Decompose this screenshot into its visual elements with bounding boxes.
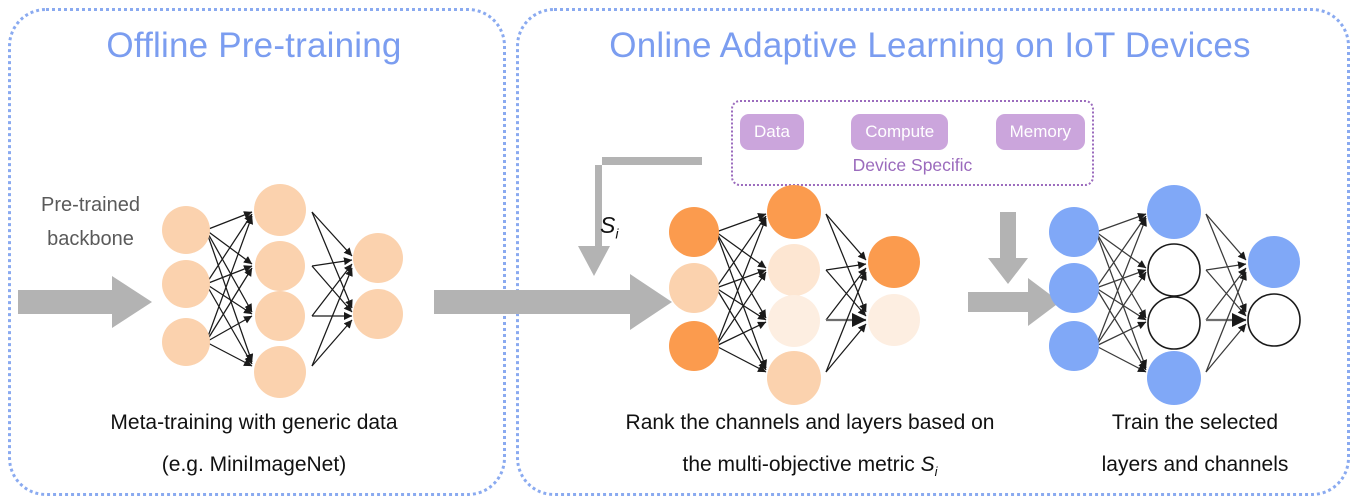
- metric-si-symbol: S: [600, 212, 615, 238]
- node-input-3: [162, 318, 210, 366]
- backbone-input-arrow: [18, 276, 152, 328]
- node-hidden-2-unselected: [1148, 244, 1200, 296]
- node-input-1: [1049, 207, 1099, 257]
- layer-input: [669, 207, 719, 371]
- rank-to-train-arrow: [968, 278, 1060, 326]
- caption-training-line1: Train the selected: [1050, 402, 1340, 444]
- node-hidden-3-unselected: [1148, 297, 1200, 349]
- layer-output: [868, 236, 920, 346]
- caption-ranking-metric-sub: i: [935, 464, 938, 479]
- node-input-1: [162, 206, 210, 254]
- node-hidden-1: [767, 185, 821, 239]
- node-input-3: [669, 321, 719, 371]
- layer-output: [1248, 236, 1300, 346]
- metric-si-label: Si: [600, 212, 619, 243]
- pretrained-backbone-network: [160, 186, 430, 402]
- node-output-1: [353, 233, 403, 283]
- node-input-3: [1049, 321, 1099, 371]
- node-input-1: [669, 207, 719, 257]
- node-hidden-4: [254, 346, 306, 398]
- caption-ranking-line2-text: the multi-objective metric: [683, 453, 921, 476]
- selected-training-network: [1048, 190, 1333, 410]
- layer-hidden: [1147, 185, 1201, 405]
- node-input-2: [162, 260, 210, 308]
- layer-output: [353, 233, 403, 339]
- node-input-2: [669, 263, 719, 313]
- node-hidden-2: [768, 244, 820, 296]
- caption-ranking: Rank the channels and layers based on th…: [560, 402, 1060, 493]
- node-hidden-4: [767, 351, 821, 405]
- node-hidden-2: [255, 241, 305, 291]
- edges-hidden-output: [312, 212, 352, 366]
- offline-to-online-arrow: [434, 274, 672, 330]
- node-output-1: [1248, 236, 1300, 288]
- edges-hidden-output: [1206, 214, 1246, 372]
- node-hidden-3: [768, 295, 820, 347]
- layer-input: [162, 206, 210, 366]
- figure-stage: Offline Pre-training Online Adaptive Lea…: [0, 0, 1352, 498]
- layer-hidden: [767, 185, 821, 405]
- caption-offline: Meta-training with generic data (e.g. Mi…: [8, 402, 500, 486]
- node-output-2-unselected: [1248, 294, 1300, 346]
- caption-offline-line2: (e.g. MiniImageNet): [8, 444, 500, 486]
- node-hidden-1: [1147, 185, 1201, 239]
- node-hidden-1: [254, 184, 306, 236]
- caption-training: Train the selected layers and channels: [1050, 402, 1340, 486]
- device-specific-down-arrow: [988, 212, 1028, 284]
- ranking-network: [668, 190, 948, 410]
- node-output-1: [868, 236, 920, 288]
- caption-training-line2: layers and channels: [1050, 444, 1340, 486]
- edges-input-hidden: [206, 212, 252, 366]
- metric-si-subscript: i: [615, 227, 618, 243]
- layer-hidden: [254, 184, 306, 398]
- caption-ranking-line1: Rank the channels and layers based on: [560, 402, 1060, 444]
- node-output-2: [353, 289, 403, 339]
- caption-ranking-line2: the multi-objective metric Si: [560, 444, 1060, 493]
- caption-offline-line1: Meta-training with generic data: [8, 402, 500, 444]
- node-input-2: [1049, 263, 1099, 313]
- node-output-2: [868, 294, 920, 346]
- edges-input-hidden: [1096, 214, 1146, 372]
- layer-input: [1049, 207, 1099, 371]
- caption-ranking-metric: S: [921, 453, 935, 476]
- edges-input-hidden: [716, 214, 766, 372]
- edges-hidden-output: [826, 214, 866, 372]
- node-hidden-4: [1147, 351, 1201, 405]
- node-hidden-3: [255, 291, 305, 341]
